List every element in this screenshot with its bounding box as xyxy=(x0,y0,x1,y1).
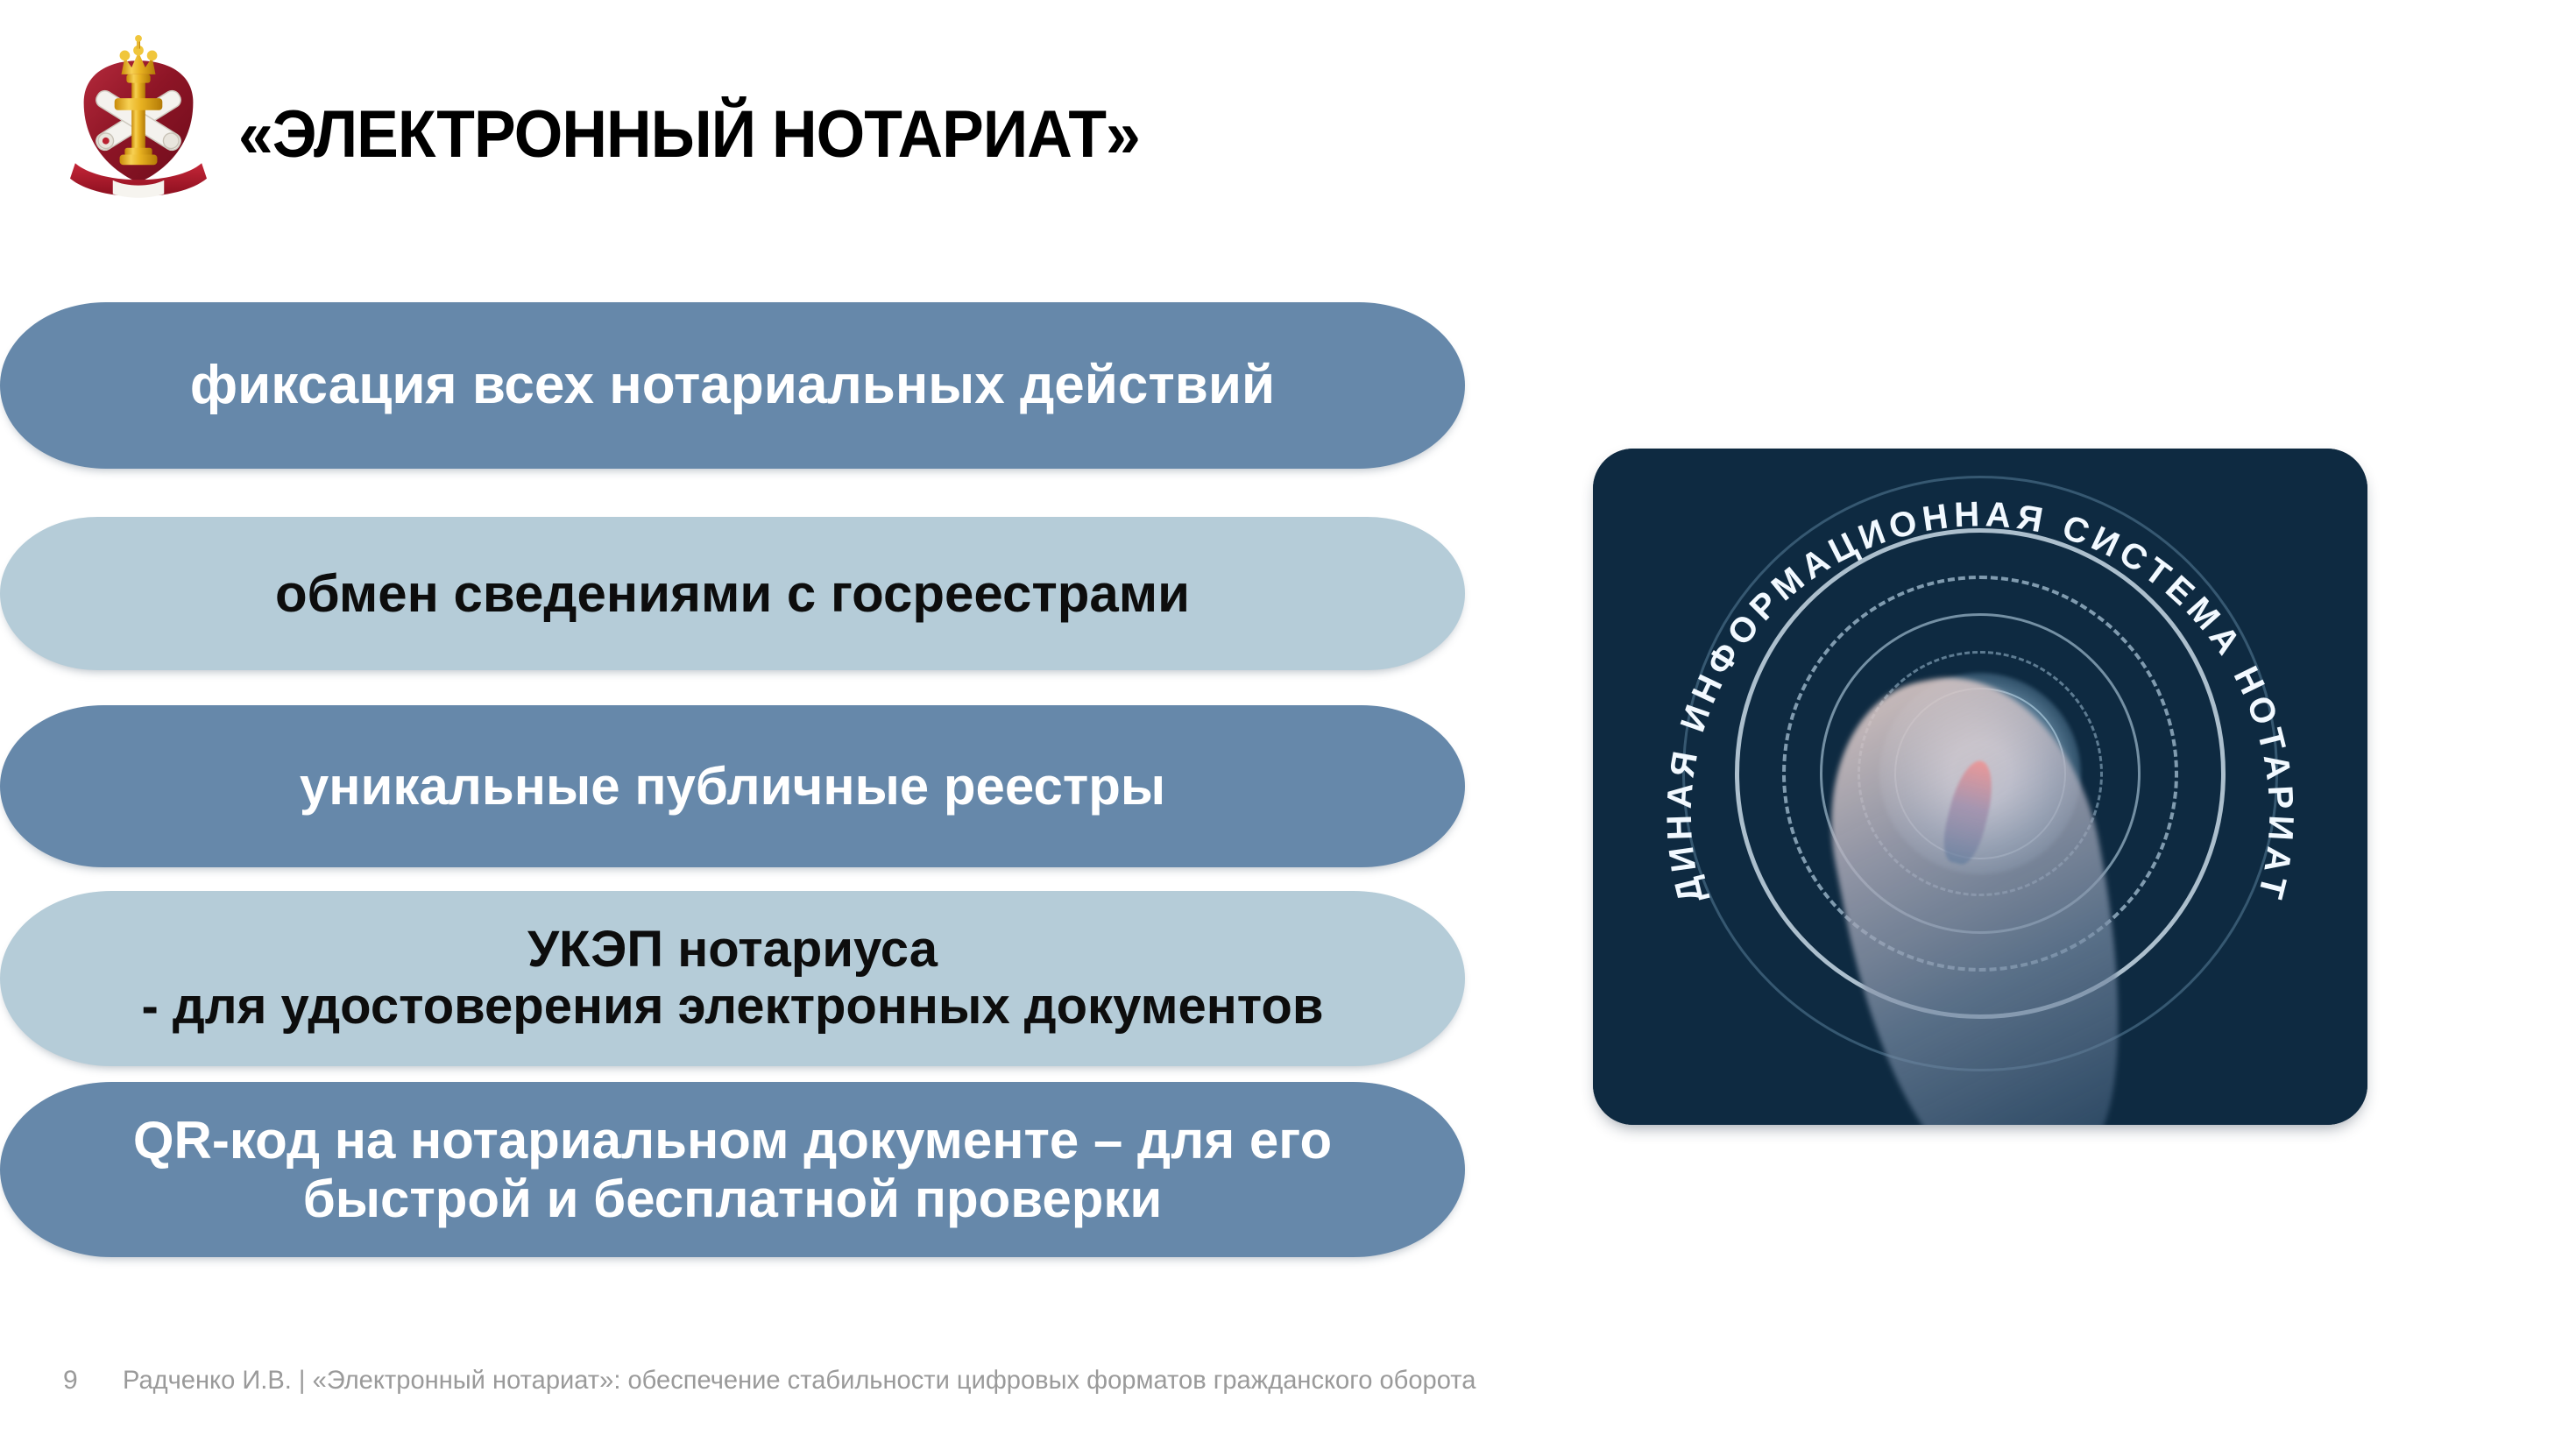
slide-footer: 9 Радченко И.В. | «Электронный нотариат»… xyxy=(0,1354,2576,1407)
pill-ukep-label: УКЭП нотариуса - для удостоверения элект… xyxy=(35,922,1430,1036)
slide: «ЭЛЕКТРОННЫЙ НОТАРИАТ» фиксация всех нот… xyxy=(0,0,2576,1449)
pill-ukep-line1: УКЭП нотариуса xyxy=(527,921,938,978)
footer-caption: Радченко И.В. | «Электронный нотариат»: … xyxy=(123,1366,1476,1396)
pill-qr-line1: QR-код на нотариальном документе – для е… xyxy=(133,1111,1332,1170)
slide-header: «ЭЛЕКТРОННЫЙ НОТАРИАТ» xyxy=(0,0,1314,219)
page-title: «ЭЛЕКТРОННЫЙ НОТАРИАТ» xyxy=(238,96,1140,173)
pill-registries-label: уникальные публичные реестры xyxy=(35,757,1430,816)
pill-registries[interactable]: уникальные публичные реестры xyxy=(0,705,1465,867)
page-number: 9 xyxy=(63,1366,78,1396)
russian-notary-chamber-emblem-icon xyxy=(51,35,226,206)
pill-qr-label: QR-код на нотариальном документе – для е… xyxy=(35,1111,1430,1228)
pill-qr[interactable]: QR-код на нотариальном документе – для е… xyxy=(0,1082,1465,1257)
pill-qr-line2: быстрой и бесплатной проверки xyxy=(35,1170,1430,1228)
pill-ukep-line2: - для удостоверения электронных документ… xyxy=(35,979,1430,1036)
eis-notariata-image: ЕДИНАЯ ИНФОРМАЦИОННАЯ СИСТЕМА НОТАРИАТА xyxy=(1593,449,2367,1125)
pill-ukep[interactable]: УКЭП нотариуса - для удостоверения элект… xyxy=(0,891,1465,1066)
pill-exchange[interactable]: обмен сведениями с госреестрами xyxy=(0,517,1465,670)
pill-fixation[interactable]: фиксация всех нотариальных действий xyxy=(0,302,1465,469)
pill-exchange-label: обмен сведениями с госреестрами xyxy=(35,564,1430,623)
pill-fixation-label: фиксация всех нотариальных действий xyxy=(35,355,1430,415)
